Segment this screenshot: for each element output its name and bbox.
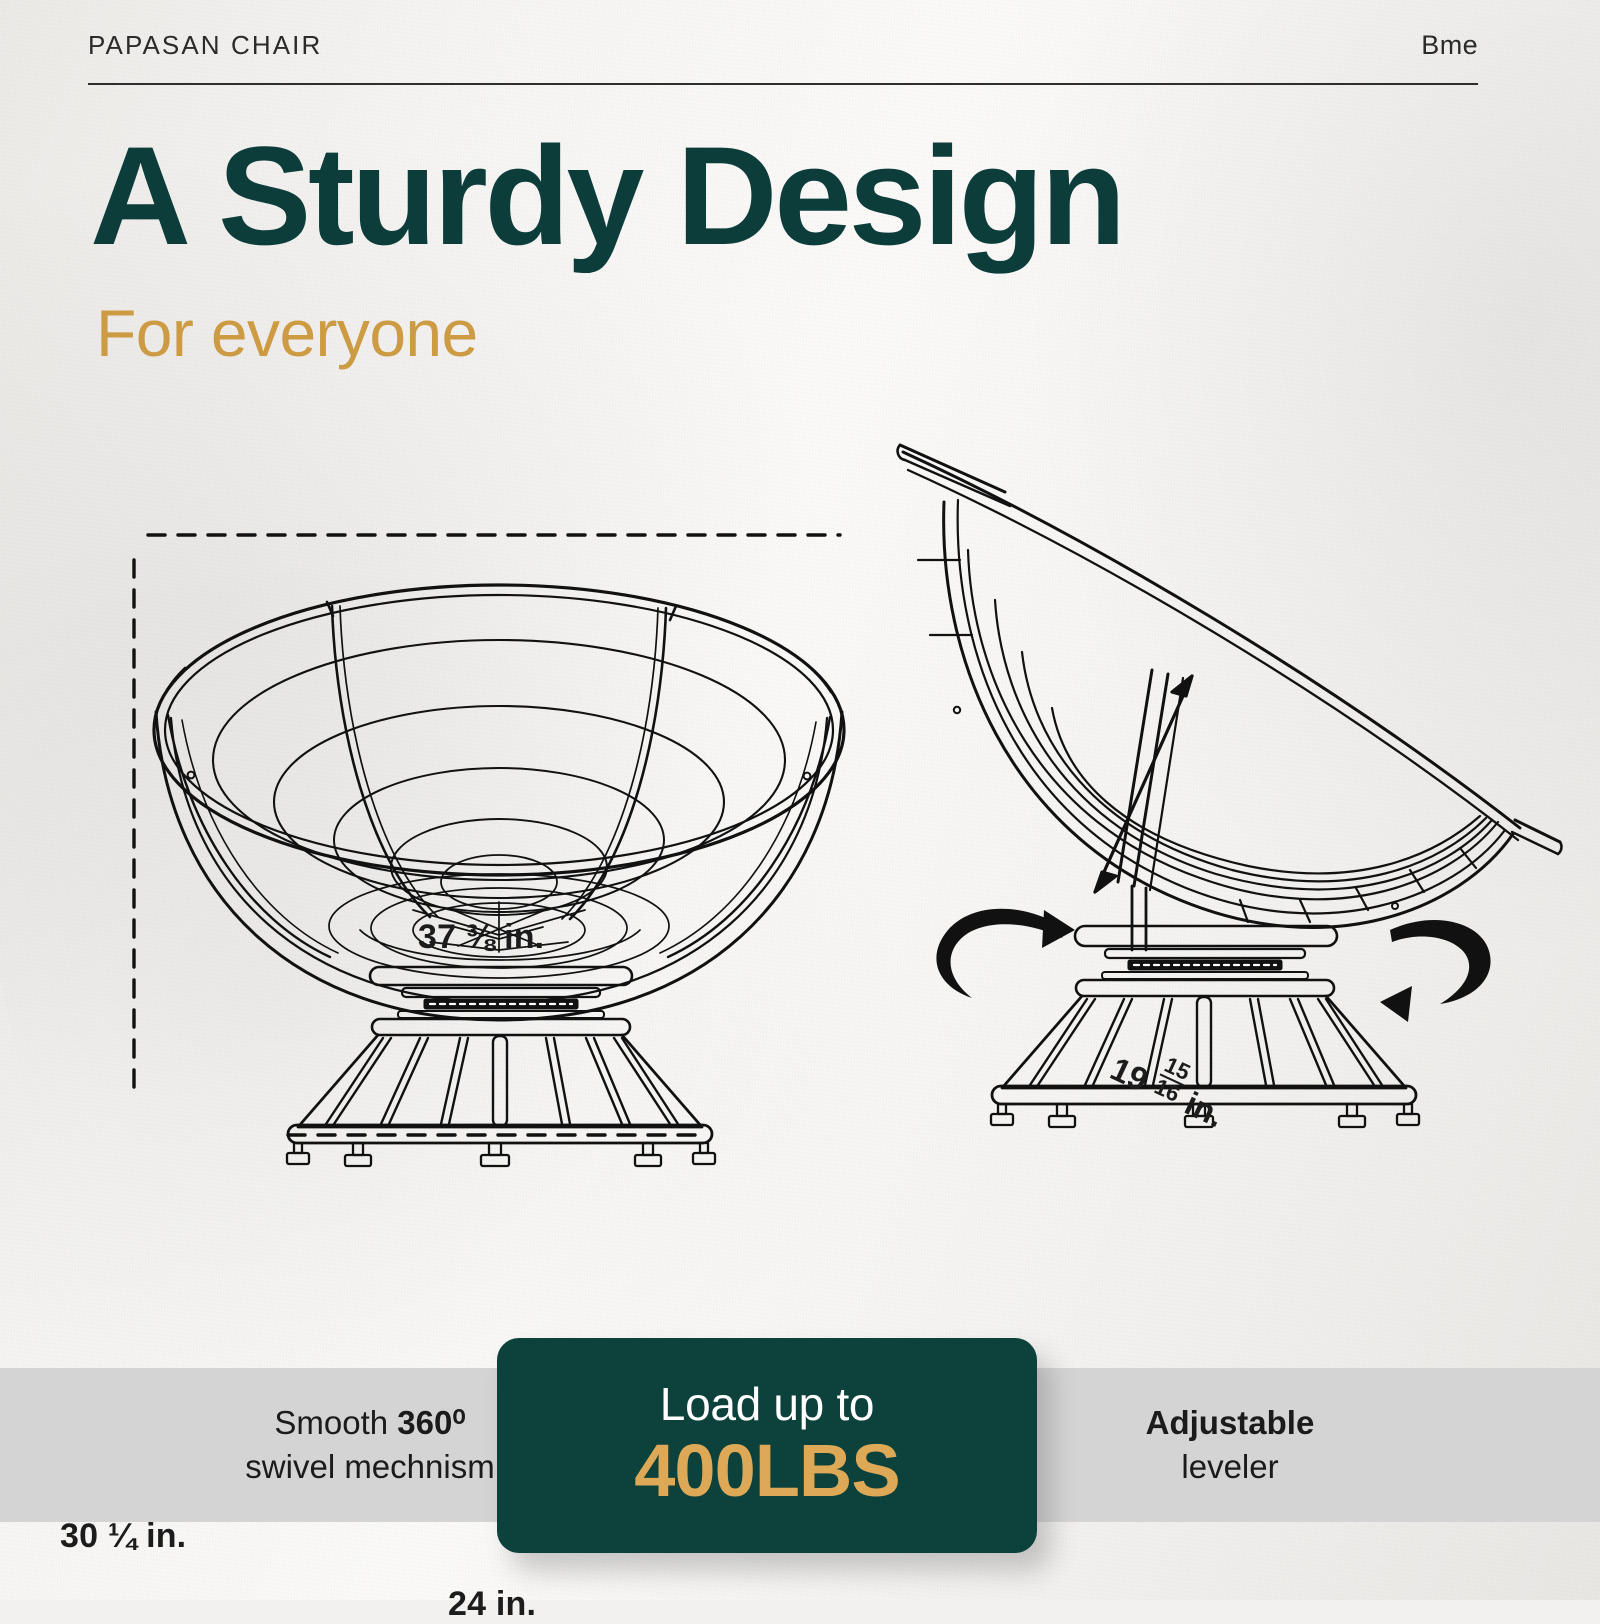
side-view-bowl	[898, 445, 1562, 950]
front-view-base	[287, 1019, 715, 1166]
header-divider	[88, 83, 1478, 85]
height-dimension-label: 30 ¼ in.	[60, 1517, 186, 1556]
product-category-label: PAPASAN CHAIR	[88, 30, 322, 61]
load-capacity-value: 400LBS	[634, 1430, 899, 1511]
brand-logo-text: Bme	[1421, 30, 1478, 61]
page-title: A Sturdy Design	[90, 126, 1123, 266]
depth-dimension-label: 24 in.	[448, 1585, 536, 1624]
header: PAPASAN CHAIR Bme	[88, 30, 1478, 85]
page-subtitle: For everyone	[96, 300, 478, 366]
width-dimension-label: 37 ⅜ in.	[418, 918, 544, 957]
leveler-feet	[287, 1143, 715, 1166]
load-capacity-badge: Load up to 400LBS	[497, 1338, 1037, 1553]
load-capacity-caption: Load up to	[660, 1380, 874, 1428]
infographic-canvas: PAPASAN CHAIR Bme A Sturdy Design For ev…	[0, 0, 1600, 1600]
swivel-rotation-arrow-right	[1380, 920, 1491, 1022]
dimension-diagram: 37 ⅜ in. 30 ¼ in. 24 in. 19 1516 in.	[0, 430, 1600, 1260]
side-view-swivel-plate	[1075, 926, 1337, 979]
swivel-rotation-arrow-left	[936, 909, 1075, 998]
